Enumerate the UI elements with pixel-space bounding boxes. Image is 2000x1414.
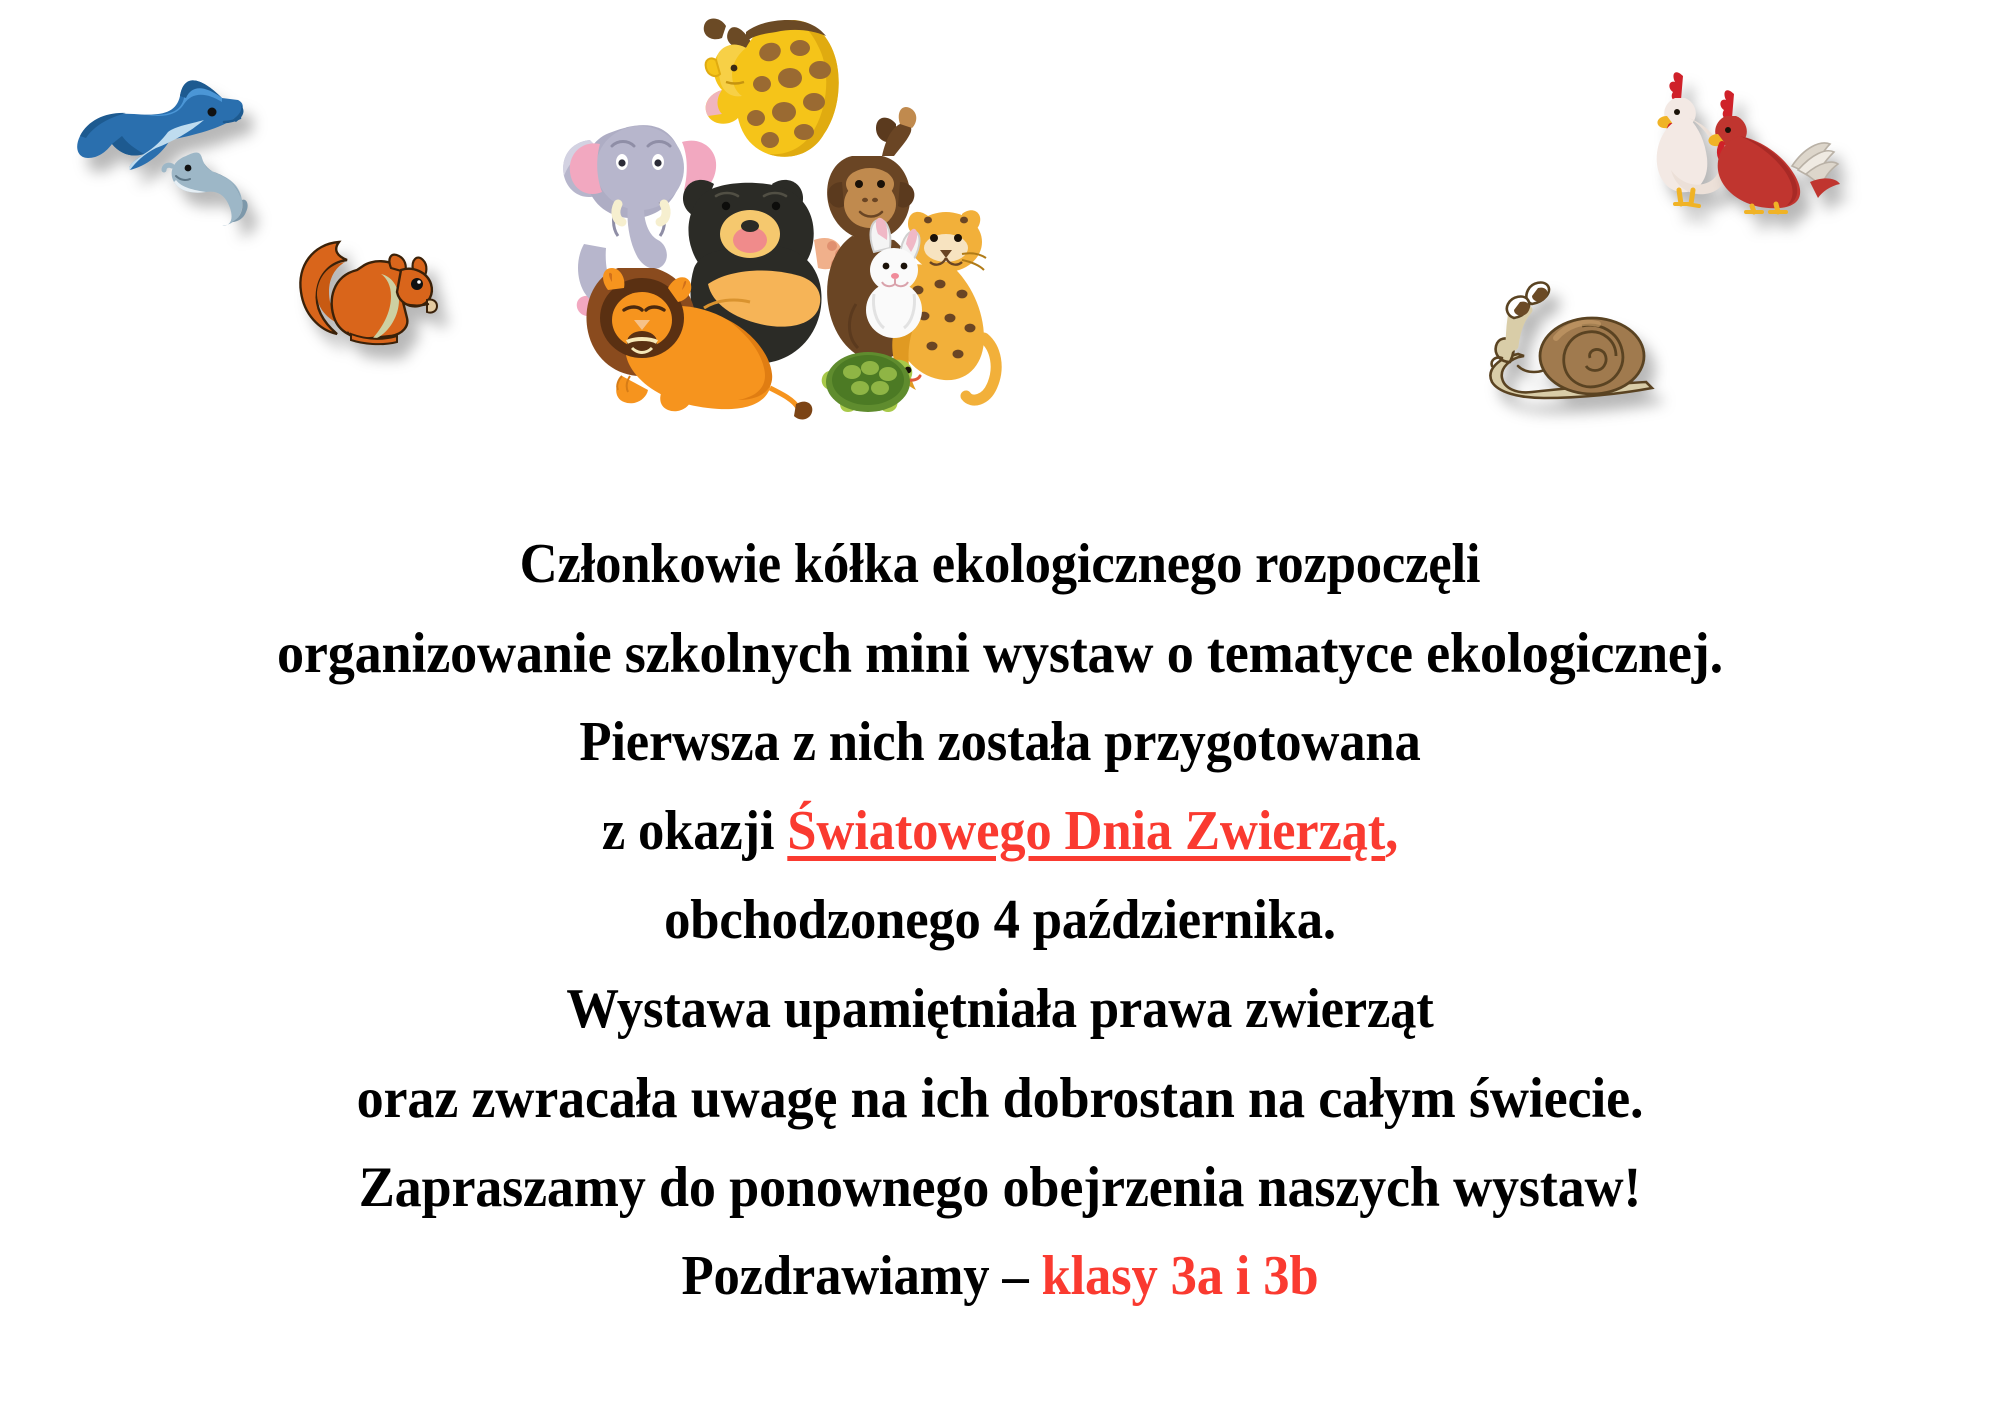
- message-line-1: Członkowie kółka ekologicznego rozpoczęl…: [60, 520, 1940, 609]
- message-line-9: Pozdrawiamy – klasy 3a i 3b: [60, 1232, 1940, 1321]
- message-line-2-text: organizowanie szkolnych mini wystaw o te…: [277, 622, 1723, 685]
- message-line-3-text: Pierwsza z nich została przygotowana: [579, 711, 1420, 773]
- chicken-red-icon: [1700, 78, 1850, 213]
- world-animal-day-comma: ,: [1385, 800, 1398, 862]
- message-line-4-lead: z okazji: [602, 800, 787, 862]
- classes-signature: klasy 3a i 3b: [1042, 1245, 1319, 1307]
- message-line-5-text: obchodzonego 4 października.: [664, 889, 1336, 951]
- message-line-7-text: oraz zwracała uwagę na ich dobrostan na …: [357, 1067, 1644, 1130]
- message-line-7: oraz zwracała uwagę na ich dobrostan na …: [50, 1054, 1950, 1143]
- message-line-5: obchodzonego 4 października.: [60, 876, 1940, 965]
- snail-icon: [1470, 282, 1670, 402]
- world-animal-day-highlight: Światowego Dnia Zwierząt: [787, 800, 1385, 862]
- message-line-3: Pierwsza z nich została przygotowana: [60, 698, 1940, 787]
- message-line-8: Zapraszamy do ponownego obejrzenia naszy…: [50, 1143, 1950, 1232]
- squirrel-icon: [287, 222, 447, 347]
- dolphin-small-icon: [160, 138, 252, 228]
- clipart-band: [0, 0, 2000, 520]
- message-line-4: z okazji Światowego Dnia Zwierząt,: [60, 787, 1940, 876]
- message-line-8-text: Zapraszamy do ponownego obejrzenia naszy…: [359, 1156, 1642, 1219]
- animal-group-icon: [556, 8, 986, 408]
- message-line-6: Wystawa upamiętniała prawa zwierząt: [60, 965, 1940, 1054]
- message-line-6-text: Wystawa upamiętniała prawa zwierząt: [566, 978, 1433, 1040]
- message-line-1-text: Członkowie kółka ekologicznego rozpoczęl…: [520, 533, 1481, 595]
- message-line-9-lead: Pozdrawiamy –: [682, 1245, 1042, 1307]
- message-block: Członkowie kółka ekologicznego rozpoczęl…: [0, 520, 2000, 1321]
- message-line-2: organizowanie szkolnych mini wystaw o te…: [50, 609, 1950, 698]
